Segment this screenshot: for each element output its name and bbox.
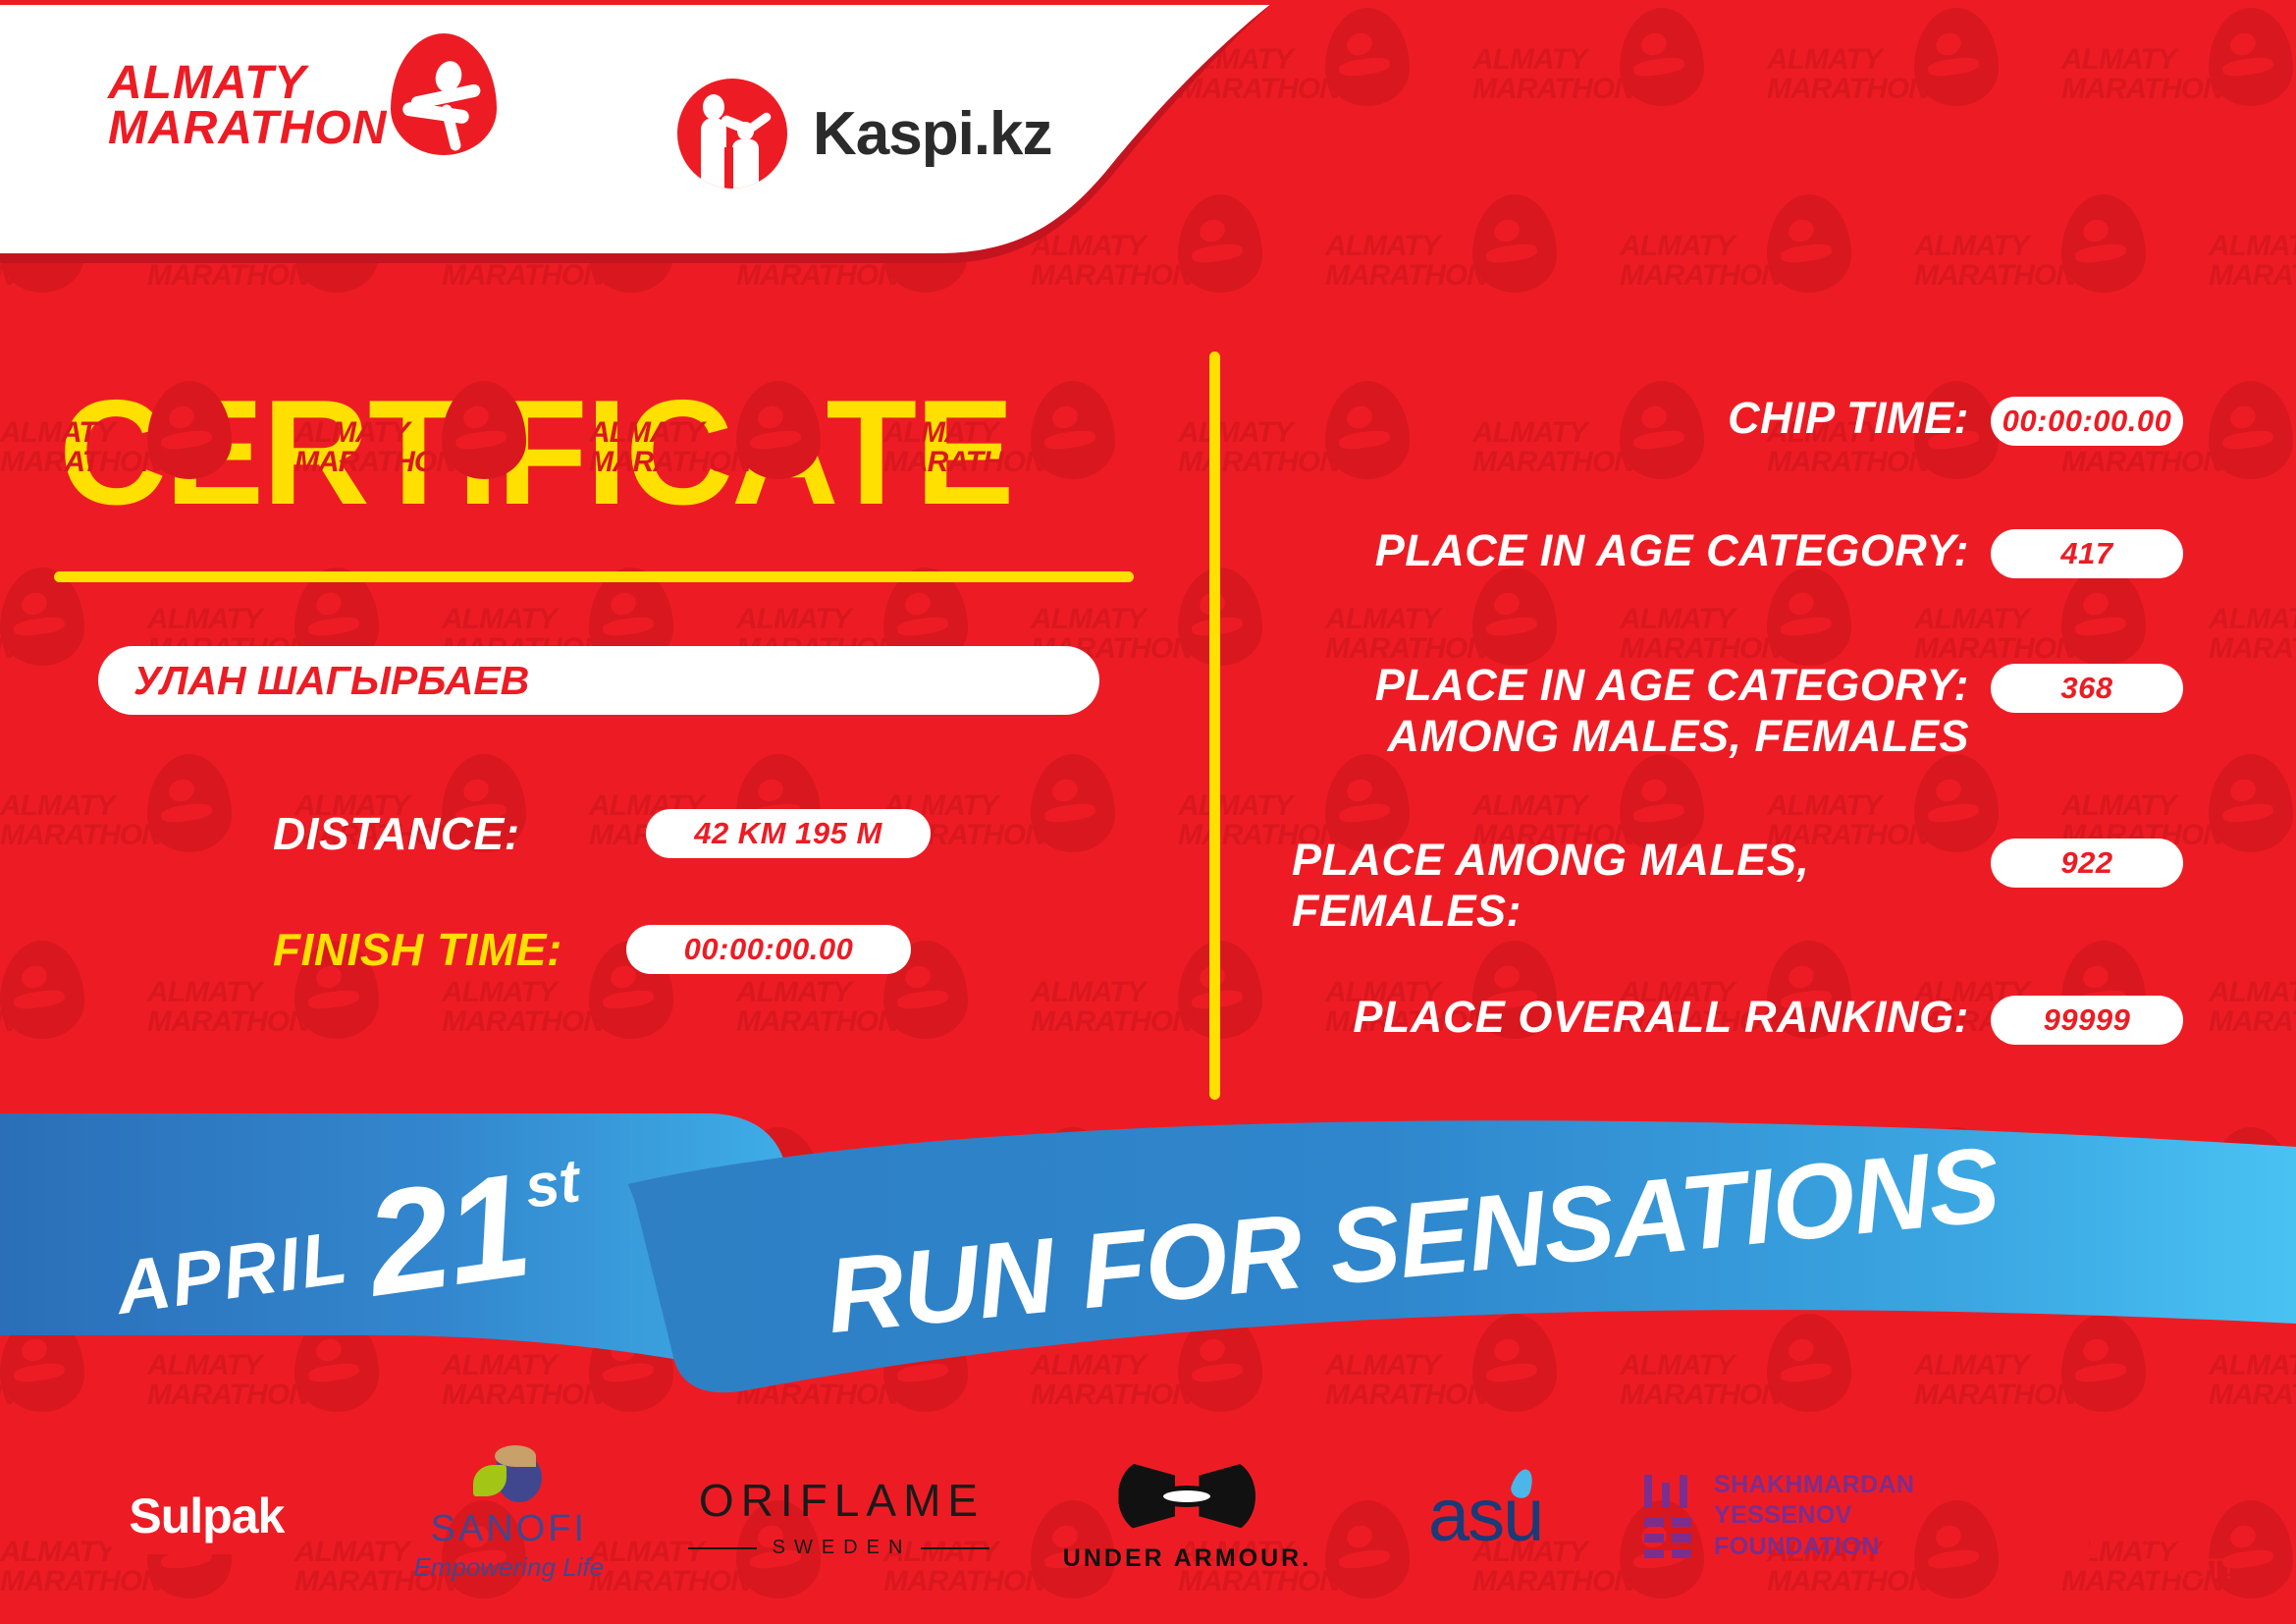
under-armour-icon: [1118, 1460, 1255, 1533]
yessenov-line1: SHAKHMARDAN YESSENOV: [1714, 1470, 2001, 1532]
under-armour-wordmark: UNDER ARMOUR.: [1063, 1544, 1311, 1573]
place-among-males-females-value: 922: [1991, 839, 2183, 888]
sponsor-sanofi: SANOFI Empowering Life: [384, 1449, 634, 1583]
kaspi-wordmark: Kaspi.kz: [813, 99, 1052, 169]
place-age-category-mf-row: PLACE IN AGE CATEGORY: AMONG MALES, FEMA…: [1292, 660, 2183, 762]
watermark-drop-icon: [1767, 568, 1851, 666]
distance-value: 42 KM 195 M: [646, 809, 931, 858]
finish-time-label: FINISH TIME:: [273, 923, 626, 976]
place-age-category-value: 417: [1991, 529, 2183, 578]
watermark-text: ALMATYMARATHON: [1914, 605, 2076, 664]
chip-time-value: 00:00:00.00: [1991, 397, 2183, 446]
watermark-drop-icon: [2061, 568, 2146, 666]
watermark-drop-icon: [1620, 8, 1704, 106]
watermark-text: ALMATYMARATHON: [1472, 45, 1634, 104]
watermark-text: ALMATYMARATHON: [1620, 232, 1782, 291]
event-day-ordinal: st: [521, 1146, 584, 1222]
yessenov-line2: FOUNDATION: [1714, 1532, 2001, 1562]
place-age-category-label: PLACE IN AGE CATEGORY:: [1292, 525, 1969, 576]
place-age-category-mf-value: 368: [1991, 664, 2183, 713]
watermark-tile: ALMATYMARATHON: [1767, 0, 2061, 187]
sanofi-icon: [471, 1449, 546, 1504]
watermark-tile: ALMATYMARATHON: [0, 746, 294, 933]
watermark-text: ALMATYMARATHON: [1620, 605, 1782, 664]
place-age-category-mf-line2: AMONG MALES, FEMALES: [1292, 711, 1969, 762]
courage-line3: THE FIRST!: [2140, 1516, 2296, 1588]
watermark-drop-icon: [1914, 8, 1999, 106]
watermark-drop-icon: [1031, 381, 1115, 479]
watermark-text: ALMATYMARATHON: [0, 791, 162, 850]
watermark-text: ALMATYMARATHON: [1325, 605, 1487, 664]
logo-line-marathon: MARATHON: [108, 106, 387, 151]
watermark-text: ALMATYMARATHON: [2209, 232, 2296, 291]
almaty-marathon-logo: ALMATY MARATHON: [108, 57, 497, 155]
yessenov-wordmark: SHAKHMARDAN YESSENOV FOUNDATION: [1714, 1470, 2001, 1562]
athlete-name-value: УЛАН ШАГЫРБАЕВ: [133, 658, 529, 704]
watermark-drop-icon: [2209, 754, 2293, 852]
watermark-text: ALMATYMARATHON: [0, 978, 15, 1037]
sponsor-asu: asu: [1364, 1479, 1607, 1553]
place-age-category-mf-label: PLACE IN AGE CATEGORY: AMONG MALES, FEMA…: [1292, 660, 1969, 762]
watermark-text: ALMATYMARATHON: [1031, 978, 1193, 1037]
finish-time-row: FINISH TIME: 00:00:00.00: [273, 923, 911, 976]
watermark-drop-icon: [147, 754, 232, 852]
sanofi-wordmark: SANOFI: [431, 1508, 587, 1550]
kaspi-family-icon: [677, 79, 787, 189]
watermark-drop-icon: [1031, 754, 1115, 852]
chip-time-row: CHIP TIME: 00:00:00.00: [1292, 393, 2183, 446]
watermark-drop-icon: [1472, 568, 1557, 666]
watermark-tile: ALMATYMARATHON: [2209, 187, 2296, 373]
chip-time-label: CHIP TIME:: [1292, 393, 1969, 444]
top-accent-rule: [0, 0, 2296, 5]
sanofi-tagline: Empowering Life: [413, 1552, 604, 1583]
sponsor-yessenov-foundation: SHAKHMARDAN YESSENOV FOUNDATION: [1642, 1470, 2002, 1562]
courage-wordmark: COURAGE TO BE THE FIRST!: [2140, 1444, 2296, 1588]
watermark-text: ALMATYMARATHON: [736, 978, 898, 1037]
kaspi-logo: Kaspi.kz: [677, 79, 1052, 189]
watermark-drop-icon: [0, 568, 84, 666]
watermark-drop-icon: [1178, 568, 1262, 666]
oriflame-subtitle: SWEDEN: [773, 1537, 912, 1559]
place-among-males-females-row: PLACE AMONG MALES, FEMALES: 922: [1292, 835, 2183, 937]
place-among-males-females-line1: PLACE AMONG MALES,: [1292, 835, 1969, 886]
sponsor-sulpak: Sulpak: [69, 1478, 345, 1554]
watermark-drop-icon: [1178, 941, 1262, 1039]
place-overall-ranking-row: PLACE OVERALL RANKING: 99999: [1292, 992, 2183, 1045]
sponsor-courage-fund: CORPORATE FUND ★ COURAGE TO BE THE FIRST…: [2020, 1444, 2296, 1588]
yessenov-icon: [1642, 1475, 1692, 1557]
oriflame-wordmark: ORIFLAME: [699, 1474, 985, 1527]
watermark-text: ALMATYMARATHON: [0, 605, 15, 664]
sponsor-under-armour: UNDER ARMOUR.: [1049, 1460, 1325, 1573]
sponsor-oriflame: ORIFLAME SWEDEN: [683, 1474, 1000, 1559]
watermark-text: ALMATYMARATHON: [1914, 232, 2076, 291]
watermark-drop-icon: [2061, 194, 2146, 293]
watermark-drop-icon: [1472, 194, 1557, 293]
distance-label: DISTANCE:: [273, 807, 646, 860]
watermark-tile: ALMATYMARATHON: [1914, 187, 2209, 373]
asu-wordmark: asu: [1428, 1479, 1543, 1553]
title-underline: [54, 571, 1134, 582]
place-overall-ranking-value: 99999: [1991, 996, 2183, 1045]
place-among-males-females-label: PLACE AMONG MALES, FEMALES:: [1292, 835, 1969, 937]
finish-time-value: 00:00:00.00: [626, 925, 911, 974]
place-among-males-females-line2: FEMALES:: [1292, 886, 1969, 937]
courage-runner-icon: CORPORATE FUND ★: [2020, 1462, 2123, 1570]
watermark-text: ALMATYMARATHON: [2209, 605, 2296, 664]
courage-line1: COURAGE: [2140, 1444, 2296, 1481]
logo-line-almaty: ALMATY: [108, 61, 387, 106]
watermark-text: ALMATYMARATHON: [2061, 45, 2223, 104]
watermark-drop-icon: [2209, 381, 2293, 479]
event-month: APRIL: [111, 1215, 354, 1331]
courage-line2: TO BE: [2140, 1480, 2296, 1516]
sponsor-bar: Sulpak SANOFI Empowering Life ORIFLAME S…: [0, 1408, 2296, 1624]
watermark-tile: ALMATYMARATHON: [2209, 560, 2296, 746]
watermark-drop-icon: [0, 941, 84, 1039]
certificate-page: ALMATYMARATHONALMATYMARATHONALMATYMARATH…: [0, 0, 2296, 1624]
watermark-drop-icon: [2209, 8, 2293, 106]
almaty-marathon-wordmark: ALMATY MARATHON: [108, 61, 387, 151]
watermark-text: ALMATYMARATHON: [147, 978, 309, 1037]
page-title: CERTIFICATE: [59, 378, 1013, 527]
watermark-tile: ALMATYMARATHON: [2061, 0, 2296, 187]
distance-row: DISTANCE: 42 KM 195 M: [273, 807, 931, 860]
column-divider: [1209, 352, 1220, 1100]
place-age-category-mf-line1: PLACE IN AGE CATEGORY:: [1292, 660, 1969, 711]
event-day: 21: [359, 1159, 536, 1309]
watermark-tile: ALMATYMARATHON: [1472, 0, 1767, 187]
watermark-text: ALMATYMARATHON: [2209, 978, 2296, 1037]
athlete-name-field: УЛАН ШАГЫРБАЕВ: [98, 646, 1099, 715]
watermark-tile: ALMATYMARATHON: [1620, 187, 1914, 373]
sulpak-wordmark: Sulpak: [95, 1478, 317, 1554]
watermark-text: ALMATYMARATHON: [1767, 45, 1929, 104]
place-overall-ranking-label: PLACE OVERALL RANKING:: [1292, 992, 1969, 1043]
watermark-drop-icon: [1767, 194, 1851, 293]
watermark-text: ALMATYMARATHON: [442, 978, 604, 1037]
place-age-category-row: PLACE IN AGE CATEGORY: 417: [1292, 525, 2183, 578]
